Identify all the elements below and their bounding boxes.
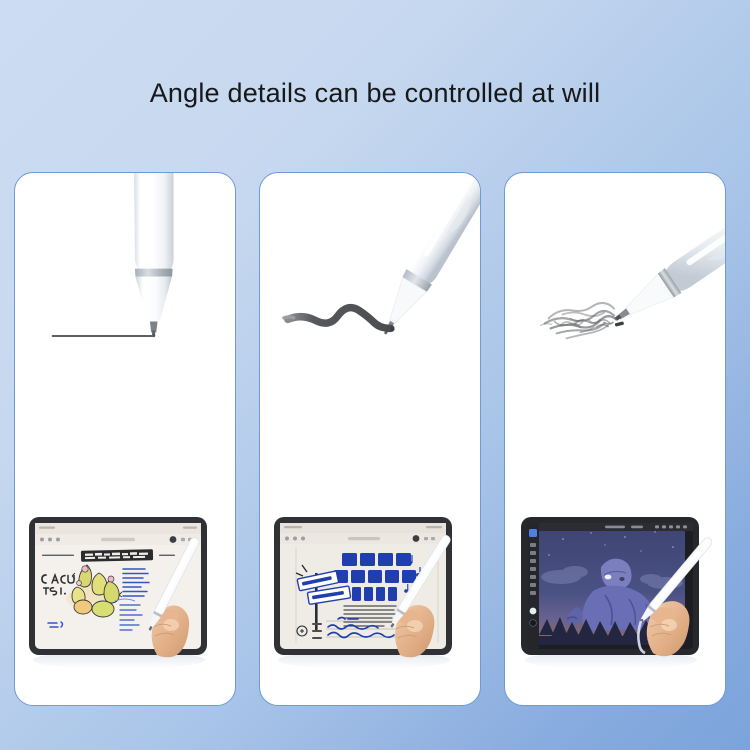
back-icon [40, 538, 44, 542]
undo-icon [293, 537, 297, 541]
stylus-barrel [134, 173, 174, 270]
app-toolbar [280, 523, 446, 533]
blue-handwriting-block [123, 569, 149, 596]
color-swatch-black [530, 620, 537, 627]
shallow-stylus [607, 180, 725, 332]
pen-tool-icon [413, 535, 420, 542]
undo-icon [48, 538, 52, 542]
active-tool-swatch [529, 529, 537, 537]
drawn-pencil-shading [541, 303, 616, 338]
stylus-cone [136, 277, 172, 322]
color-swatch-white [530, 608, 537, 615]
status-right [426, 526, 442, 528]
document-title-bar [348, 537, 380, 540]
rule-left [42, 555, 74, 556]
pen-tool-icon [170, 536, 177, 543]
status-left [284, 526, 302, 528]
tablet-painting-illustration [505, 503, 726, 683]
panel-vertical-angle [14, 172, 236, 706]
panel-shallow-angle [504, 172, 726, 706]
back-icon [285, 537, 289, 541]
canvas-title [605, 526, 625, 529]
drawn-wave-tail [284, 317, 294, 318]
product-feature-image: Angle details can be controlled at will [0, 0, 750, 750]
tablet-scene-poster [260, 503, 481, 683]
tablet-scene-cactus [15, 503, 236, 683]
stylus-barrel [664, 180, 725, 294]
redo-icon [301, 537, 305, 541]
canvas-zoom [631, 526, 643, 529]
document-title-bar [101, 538, 135, 541]
app-toolbar [35, 523, 201, 534]
eraser-icon [181, 538, 185, 541]
poster-title-line-2 [334, 570, 416, 583]
status-left [39, 527, 55, 529]
stylus-band [135, 269, 173, 277]
panel-tilted-angle [259, 172, 481, 706]
tilted-stylus [372, 173, 480, 342]
stylus-contact-point [615, 321, 624, 326]
tablet-scene-painting [505, 503, 726, 683]
status-right [183, 527, 197, 529]
tablet-poster-illustration [260, 503, 481, 683]
tablet-cactus-illustration [15, 503, 236, 683]
redo-icon [56, 538, 60, 542]
rule-right [159, 555, 175, 556]
drawn-wave-stroke [288, 308, 391, 329]
share-icon [431, 537, 435, 540]
stylus-contact-point [390, 327, 394, 331]
page-title: Angle details can be controlled at will [0, 76, 750, 110]
eraser-icon [424, 537, 428, 540]
